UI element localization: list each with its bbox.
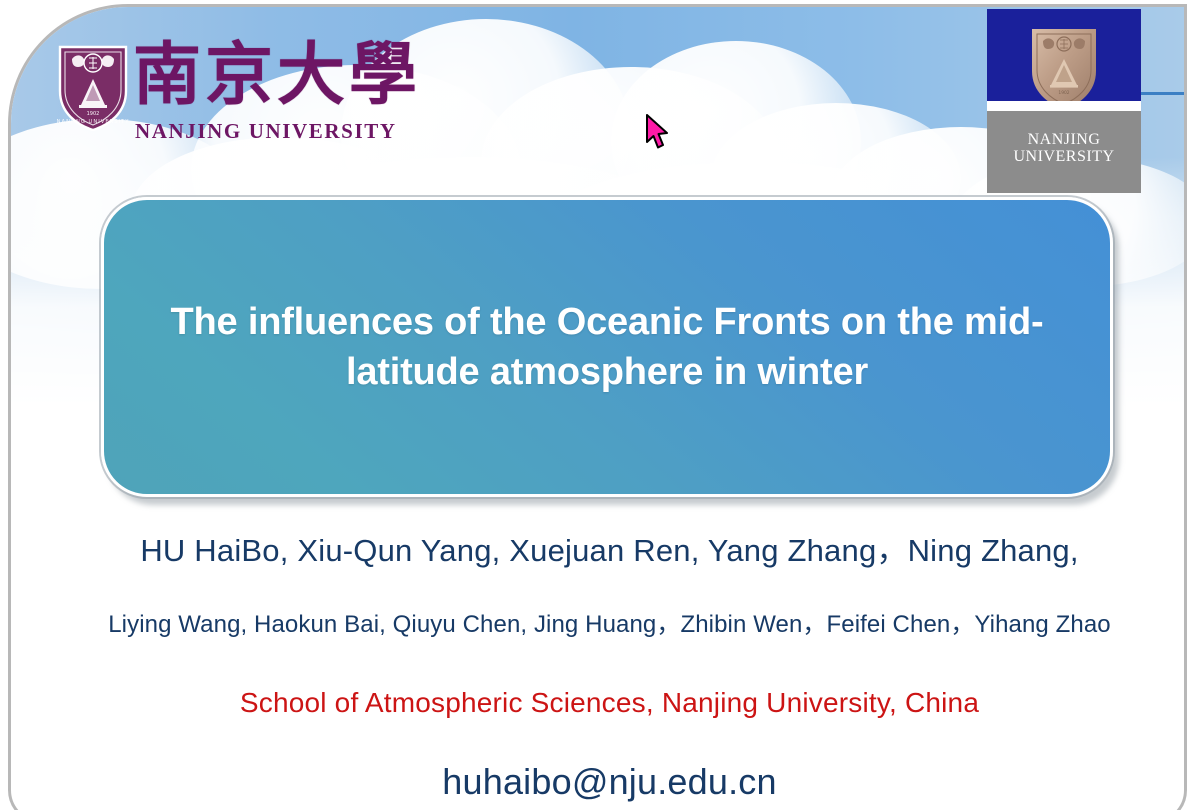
university-chinese-name: 南京大學 — [133, 31, 383, 121]
badge-white-strip — [987, 101, 1141, 111]
badge-label: NANJING UNIVERSITY — [987, 131, 1141, 165]
corner-university-badge: 1902 NANJING UNIVERSITY — [987, 9, 1141, 193]
contact-email: huhaibo@nju.edu.cn — [11, 761, 1187, 803]
page-title: The influences of the Oceanic Fronts on … — [104, 297, 1110, 397]
affiliation-text: School of Atmospheric Sciences, Nanjing … — [11, 687, 1187, 719]
presentation-slide: 1902 NANJING UNIVERSITY 南京大學 NANJING UNI… — [0, 0, 1197, 810]
slide-frame-border: 1902 NANJING UNIVERSITY 南京大學 NANJING UNI… — [8, 4, 1187, 810]
svg-text:1902: 1902 — [87, 111, 100, 117]
svg-text:1902: 1902 — [1058, 90, 1069, 96]
badge-label-line-2: UNIVERSITY — [1014, 148, 1115, 165]
university-english-name: NANJING UNIVERSITY — [135, 119, 381, 144]
svg-text:NANJING UNIVERSITY: NANJING UNIVERSITY — [57, 119, 130, 125]
badge-accent-rule — [1141, 92, 1187, 95]
title-panel: The influences of the Oceanic Fronts on … — [101, 197, 1113, 497]
nanjing-university-crest-icon: 1902 NANJING UNIVERSITY — [55, 41, 131, 133]
author-line-primary: HU HaiBo, Xiu-Qun Yang, Xuejuan Ren, Yan… — [11, 525, 1187, 570]
badge-label-line-1: NANJING — [1028, 131, 1101, 148]
nanjing-university-bronze-shield-icon: 1902 — [1028, 25, 1100, 111]
author-line-secondary: Liying Wang, Haokun Bai, Qiuyu Chen, Jin… — [11, 604, 1187, 639]
